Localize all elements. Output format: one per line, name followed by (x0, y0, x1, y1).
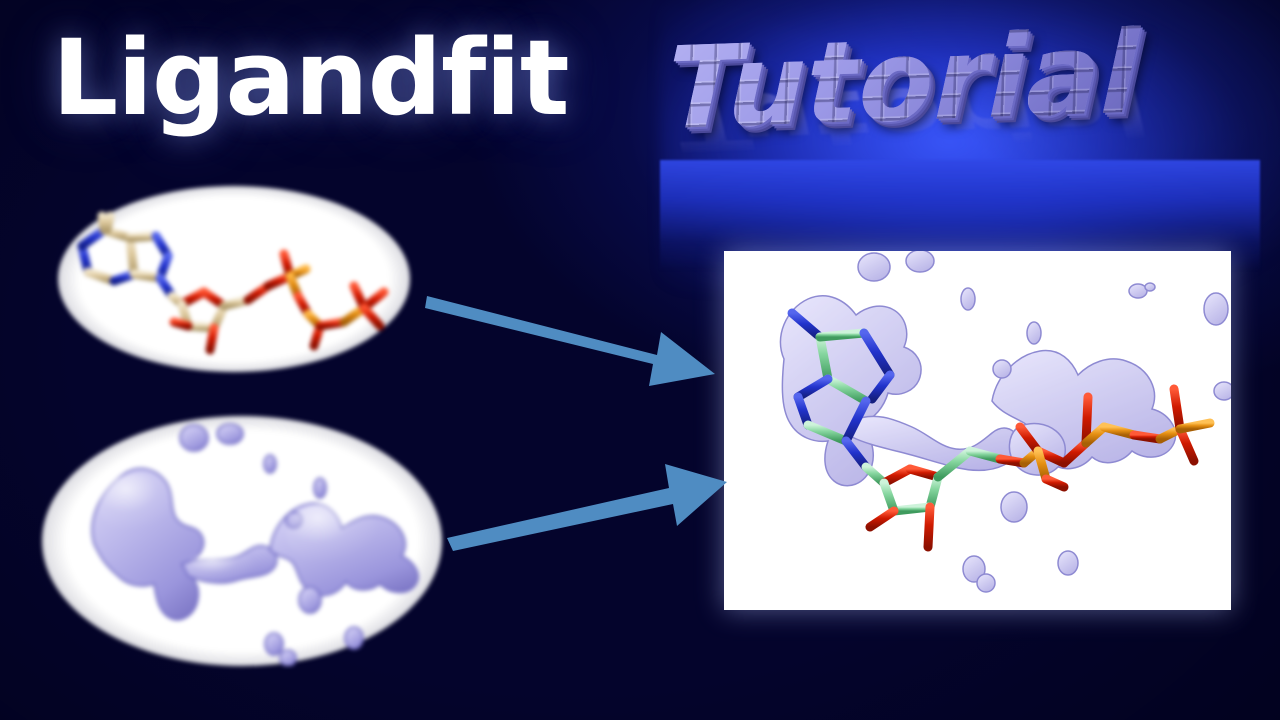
fitted-result-panel (724, 251, 1231, 610)
density-fragment (264, 455, 276, 473)
ligand-structure-oval (58, 186, 410, 372)
arrow-ligand-to-result (425, 282, 725, 387)
arrow-density-to-result (445, 452, 730, 552)
density-envelope (780, 251, 1231, 592)
density-fragment (299, 587, 321, 613)
density-fragment (280, 650, 296, 666)
density-isosurface (42, 416, 442, 666)
tutorial-text: Tutorial (666, 17, 1141, 147)
tutorial-banner: Tutorial Tutorial Tutorial (660, 10, 1260, 260)
ligand-stick-model (58, 186, 410, 372)
arrow-right-icon (447, 464, 727, 551)
density-fragment (180, 425, 208, 451)
density-fragment (217, 424, 243, 444)
fitted-ligand-in-density (724, 251, 1231, 610)
density-fragment (265, 633, 283, 655)
slide-canvas: Ligandfit Tutorial Tutorial Tutorial (0, 0, 1280, 720)
electron-density-oval (42, 416, 442, 666)
density-fragment (314, 478, 326, 498)
arrow-right-icon (425, 296, 715, 386)
page-title: Ligandfit (52, 26, 569, 130)
density-fragment (345, 627, 363, 649)
